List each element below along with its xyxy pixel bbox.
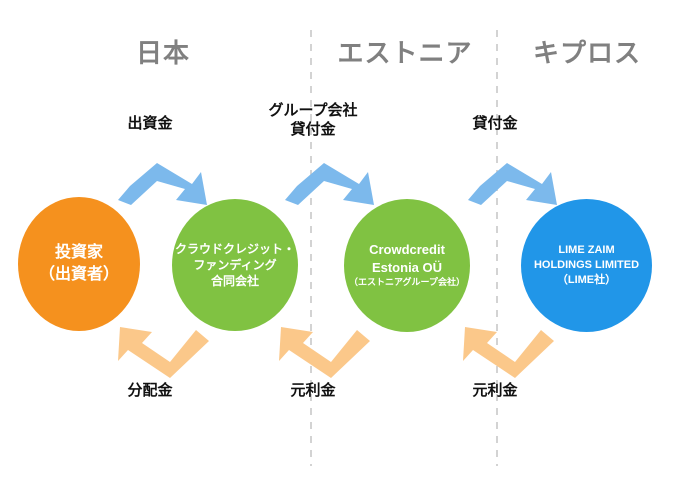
arrow-ganrikin-2 (463, 327, 554, 378)
entity-crowdcredit-estonia-note: （エストニアグループ会社） (349, 276, 465, 290)
entity-lime-zaim-line1: LIME ZAIM (558, 243, 614, 258)
entity-lime-zaim-line2: HOLDINGS LIMITED (534, 258, 639, 273)
arrow-group-loan (285, 163, 374, 205)
country-header-cyprus: キプロス (502, 40, 672, 66)
flow-label-toushikin: 出資金 (95, 115, 205, 134)
entity-lime-zaim-line3: （LIME社） (557, 273, 616, 288)
flow-label-bunpaikin: 分配金 (95, 382, 205, 401)
entity-investor-line1: 投資家 (55, 242, 103, 264)
entity-crowdcredit-estonia: Crowdcredit Estonia OÜ （エストニアグループ会社） (344, 199, 470, 332)
flow-label-group-loan: グループ会社 貸付金 (248, 102, 378, 140)
entity-crowdcredit-funding-line3: 合同会社 (211, 273, 259, 289)
arrow-toushikin (118, 163, 207, 205)
entity-lime-zaim: LIME ZAIM HOLDINGS LIMITED （LIME社） (521, 199, 652, 332)
flow-label-group-loan-line1: グループ会社 (268, 102, 357, 119)
entity-crowdcredit-funding-line1: クラウドクレジット・ (175, 241, 295, 257)
entity-investor-line2: （出資者） (39, 264, 119, 286)
entity-crowdcredit-estonia-line1: Crowdcredit (369, 241, 445, 259)
arrow-kashitsukekin (468, 163, 557, 205)
arrow-bunpaikin (118, 327, 209, 378)
entity-crowdcredit-funding: クラウドクレジット・ ファンディング 合同会社 (172, 199, 298, 331)
country-header-japan: 日本 (78, 40, 248, 66)
entity-crowdcredit-estonia-line2: Estonia OÜ (372, 259, 442, 277)
arrow-ganrikin-1 (279, 327, 370, 378)
entity-crowdcredit-funding-line2: ファンディング (193, 257, 276, 273)
entity-investor: 投資家 （出資者） (18, 197, 140, 331)
flow-label-ganrikin-2: 元利金 (440, 382, 550, 401)
fund-flow-diagram: 日本 エストニア キプロス 出資金 グループ会社 貸付金 貸付金 分配金 元利金… (0, 0, 680, 480)
flow-label-group-loan-line2: 貸付金 (290, 121, 335, 138)
flow-label-ganrikin-1: 元利金 (258, 382, 368, 401)
flow-label-kashitsukekin: 貸付金 (440, 115, 550, 134)
country-header-estonia: エストニア (320, 40, 490, 66)
